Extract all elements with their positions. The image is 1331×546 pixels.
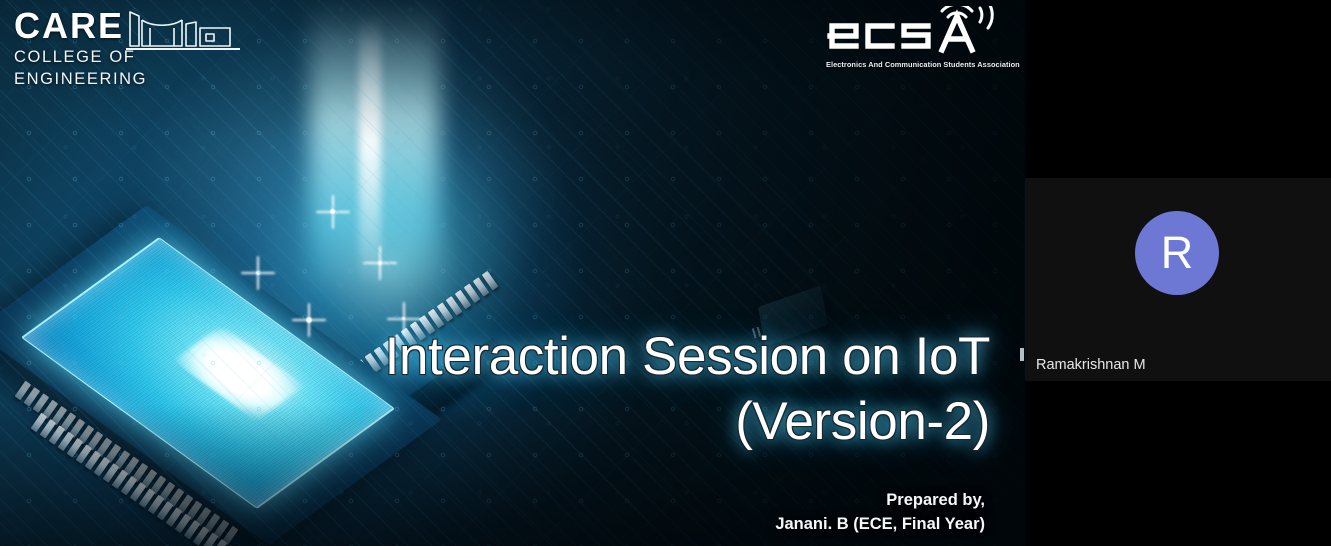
- participant-name: Ramakrishnan M: [1036, 356, 1146, 374]
- shared-slide: CARE COLLEGE OF ENGINEERING: [0, 0, 1025, 546]
- slide-title-line-1: Interaction Session on IoT: [300, 330, 990, 383]
- antenna-tower-icon: [953, 15, 960, 22]
- care-college-logo: CARE COLLEGE OF ENGINEERING: [14, 6, 244, 74]
- ecsa-logo: Electronics And Communication Students A…: [826, 6, 1018, 76]
- avatar: R: [1135, 211, 1219, 295]
- care-logo-subtitle: COLLEGE OF ENGINEERING: [14, 46, 244, 90]
- prepared-by-name: Janani. B (ECE, Final Year): [600, 512, 985, 536]
- participants-panel: R Ramakrishnan M: [1025, 0, 1331, 546]
- slide-edge-artifact: [1020, 348, 1024, 361]
- ecsa-logo-subtitle: Electronics And Communication Students A…: [826, 60, 1018, 69]
- prepared-by-block: Prepared by, Janani. B (ECE, Final Year): [600, 488, 985, 536]
- prepared-by-label: Prepared by,: [600, 488, 985, 512]
- ecsa-logo-mark: [826, 6, 1018, 58]
- participant-tile[interactable]: R Ramakrishnan M: [1025, 178, 1331, 381]
- campus-building-icon: [126, 8, 244, 52]
- slide-title-block: Interaction Session on IoT (Version-2): [300, 330, 990, 448]
- avatar-initial: R: [1161, 230, 1194, 275]
- conference-screen: CARE COLLEGE OF ENGINEERING: [0, 0, 1331, 546]
- slide-title-line-2: (Version-2): [300, 395, 990, 448]
